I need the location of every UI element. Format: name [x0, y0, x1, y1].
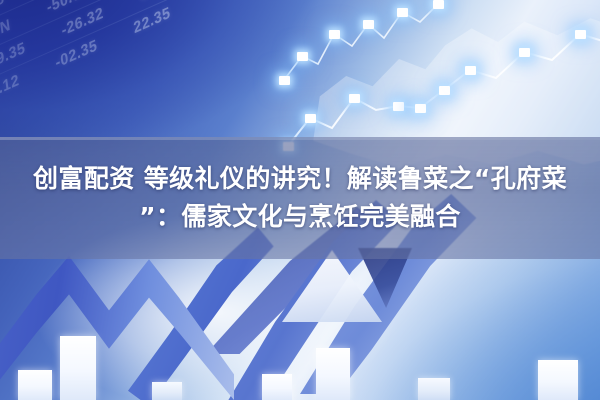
bar-column-icon	[418, 378, 450, 400]
data-node-icon	[465, 66, 476, 75]
data-node-icon	[363, 20, 374, 29]
bar-column-icon	[152, 382, 182, 400]
bar-column-icon	[538, 360, 578, 400]
title-line-1: 创富配资 等级礼仪的讲究！解读鲁菜之“孔府菜	[33, 162, 567, 196]
title-line-2: ”：儒家文化与烹饪完美融合	[139, 200, 461, 234]
data-node-icon	[519, 48, 530, 57]
page-title: 创富配资 等级礼仪的讲究！解读鲁菜之“孔府菜 ”：儒家文化与烹饪完美融合	[0, 137, 600, 259]
finance-article-banner: -06.05 -09.35 -29.35 21.05 2.05 -09.33 -…	[0, 0, 600, 400]
data-node-icon	[297, 52, 308, 61]
data-node-icon	[433, 0, 444, 9]
data-node-icon	[305, 114, 316, 123]
ticker-value: 13.12	[0, 67, 21, 110]
data-node-icon	[575, 30, 586, 39]
data-node-icon	[415, 104, 426, 113]
data-node-icon	[329, 30, 340, 39]
bar-column-icon	[316, 348, 350, 400]
line-chart-path-upper	[284, 4, 438, 80]
data-node-icon	[393, 102, 404, 111]
data-node-icon	[439, 86, 450, 95]
bar-column-icon	[262, 374, 292, 400]
data-node-icon	[397, 8, 408, 17]
data-node-icon	[349, 94, 360, 103]
bar-column-icon	[18, 370, 52, 400]
data-node-icon	[279, 76, 290, 85]
bar-column-icon	[60, 336, 96, 400]
